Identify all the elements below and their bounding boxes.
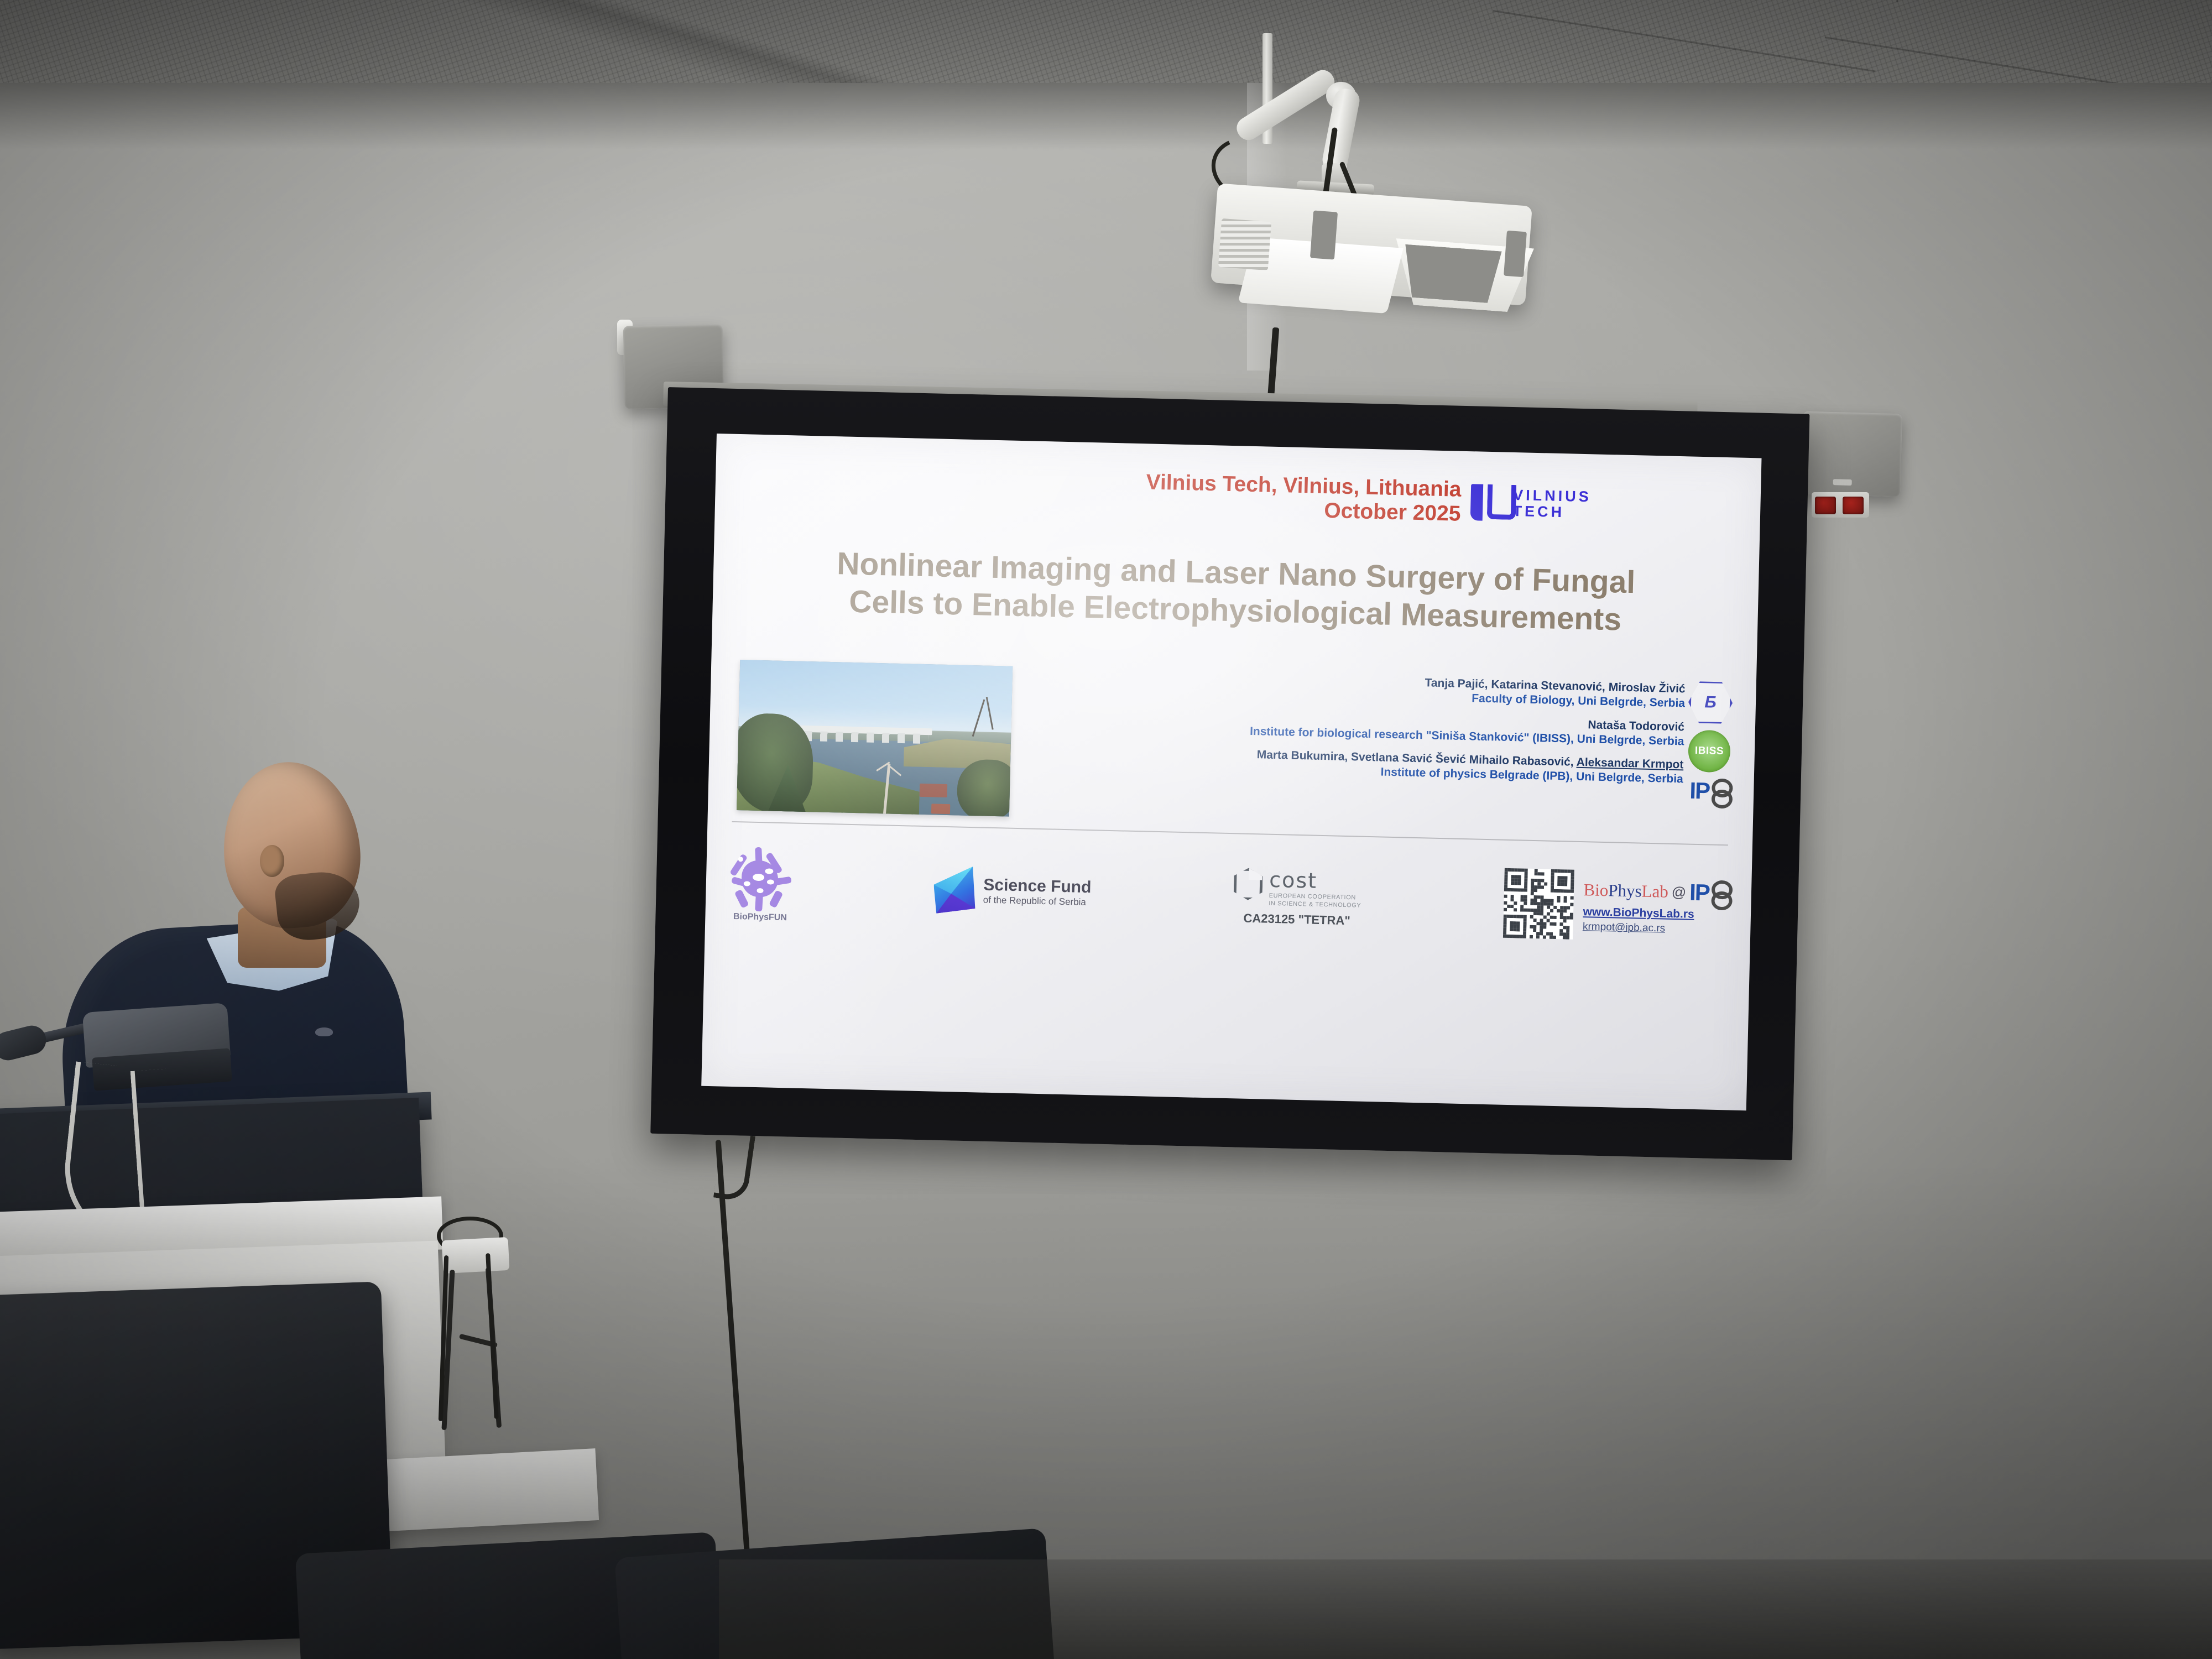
slide-title: Nonlinear Imaging and Laser Nano Surgery… xyxy=(735,542,1736,641)
brand-at-symbol: @ xyxy=(1671,883,1686,901)
slide-photo xyxy=(737,660,1013,817)
floor-shadow-band xyxy=(719,1559,2212,1659)
science-fund-title: Science Fund xyxy=(983,876,1092,898)
ipb-letters: IP xyxy=(1689,879,1710,906)
speaker-brand-mark xyxy=(1833,479,1852,486)
ibiss-logo-icon: IBISS xyxy=(1688,730,1731,773)
cell-dot xyxy=(753,874,764,881)
conference-room-scene: Vilnius Tech, Vilnius, Lithuania October… xyxy=(0,0,2212,1659)
vilnius-tech-line2: TECH xyxy=(1512,503,1591,521)
projector-grille xyxy=(1310,211,1338,260)
biophysfun-label: BioPhysFUN xyxy=(733,912,787,923)
brand-phys-part: Phys xyxy=(1608,880,1642,900)
author-group: Tanja Pajić, Katarina Stevanović, Mirosl… xyxy=(1020,666,1686,711)
cost-wordmark-group: cost EUROPEAN COOPERATION IN SCIENCE & T… xyxy=(1269,869,1362,910)
author-group: Marta Bukumira, Svetlana Savić Šević Mih… xyxy=(1019,742,1684,787)
conference-info: Vilnius Tech, Vilnius, Lithuania October… xyxy=(1145,470,1462,526)
cost-tagline-line2: IN SCIENCE & TECHNOLOGY xyxy=(1269,900,1361,910)
alarm-indicator xyxy=(1843,497,1864,514)
presentation-slide: Vilnius Tech, Vilnius, Lithuania October… xyxy=(701,434,1761,1110)
science-fund-mark-icon xyxy=(933,865,976,914)
vilnius-tech-logo: VILNIUS TECH xyxy=(1470,484,1592,523)
projection-screen-surface: Vilnius Tech, Vilnius, Lithuania October… xyxy=(701,434,1761,1110)
science-fund-wordmark: Science Fund of the Republic of Serbia xyxy=(983,876,1092,909)
vilnius-tech-wordmark: VILNIUS TECH xyxy=(1512,487,1592,520)
biophyslab-title-line: BioPhysLab @ IP xyxy=(1583,877,1727,906)
slide-footer: BioPhysFUN Science Fund of the Republic … xyxy=(729,832,1728,961)
slide-header: Vilnius Tech, Vilnius, Lithuania October… xyxy=(1093,469,1592,529)
cell-dot xyxy=(757,888,763,893)
cost-action-code: CA23125 "TETRA" xyxy=(1243,911,1350,928)
ipb-logo-icon: IP xyxy=(1689,778,1728,805)
science-fund-subtitle: of the Republic of Serbia xyxy=(983,895,1091,908)
cost-logo: cost EUROPEAN COOPERATION IN SCIENCE & T… xyxy=(1233,868,1362,910)
wall-soffit-shadow xyxy=(0,83,2212,149)
biophysfun-logo-icon xyxy=(730,848,792,911)
presenter-ear xyxy=(260,845,284,877)
photo-roof xyxy=(920,784,948,797)
cost-wordmark: cost xyxy=(1269,869,1362,894)
biophyslab-brand: BioPhysLab @ IP www.BioPhysLab.rs krmpot… xyxy=(1583,877,1728,936)
ipb-b-glyph xyxy=(1710,880,1727,906)
cell-spike xyxy=(755,847,763,868)
author-name-presenting: Aleksandar Krmpot xyxy=(1576,756,1683,771)
contact-email[interactable]: krmpot@ipb.ac.rs xyxy=(1583,921,1666,935)
cost-block: cost EUROPEAN COOPERATION IN SCIENCE & T… xyxy=(1233,868,1361,928)
biophyslab-block: BioPhysLab @ IP www.BioPhysLab.rs krmpot… xyxy=(1503,868,1727,943)
ipb-logo-icon: IP xyxy=(1689,879,1728,907)
cell-spike xyxy=(755,893,763,912)
ipb-letters: IP xyxy=(1689,778,1710,805)
sweater-logo xyxy=(315,1027,333,1036)
author-group: Nataša Todorović Institute for biologica… xyxy=(1019,705,1684,749)
institution-logos: Б IBISS IP xyxy=(1682,680,1738,805)
photo-roof xyxy=(931,804,950,814)
biophyslab-wordmark: BioPhysLab xyxy=(1583,880,1668,902)
brand-lab-part: Lab xyxy=(1641,881,1668,901)
speaker-right xyxy=(1801,411,1902,497)
biophysfun-block: BioPhysFUN xyxy=(729,848,792,924)
brand-bio-part: Bio xyxy=(1583,880,1609,900)
projector-grille xyxy=(1504,231,1527,277)
cost-hexagon-icon xyxy=(1233,868,1262,900)
vilnius-tech-mark-icon xyxy=(1470,484,1507,521)
faculty-of-biology-mark: Б xyxy=(1688,680,1733,726)
author-list: Tanja Pajić, Katarina Stevanović, Mirosl… xyxy=(1018,666,1686,796)
vilnius-tech-line1: VILNIUS xyxy=(1513,487,1592,505)
alarm-indicator xyxy=(1815,497,1836,514)
cell-dot xyxy=(767,879,774,884)
photo-branch xyxy=(986,697,994,730)
faculty-of-biology-logo-icon: Б xyxy=(1688,680,1733,726)
photo-branch xyxy=(972,699,985,737)
ipb-b-glyph xyxy=(1710,779,1728,805)
qr-code[interactable] xyxy=(1503,868,1574,940)
cell-dot xyxy=(765,868,773,874)
science-fund-logo: Science Fund of the Republic of Serbia xyxy=(933,865,1092,917)
biophyslab-url[interactable]: www.BioPhysLab.rs xyxy=(1583,905,1694,921)
projector-vent xyxy=(1218,218,1271,270)
